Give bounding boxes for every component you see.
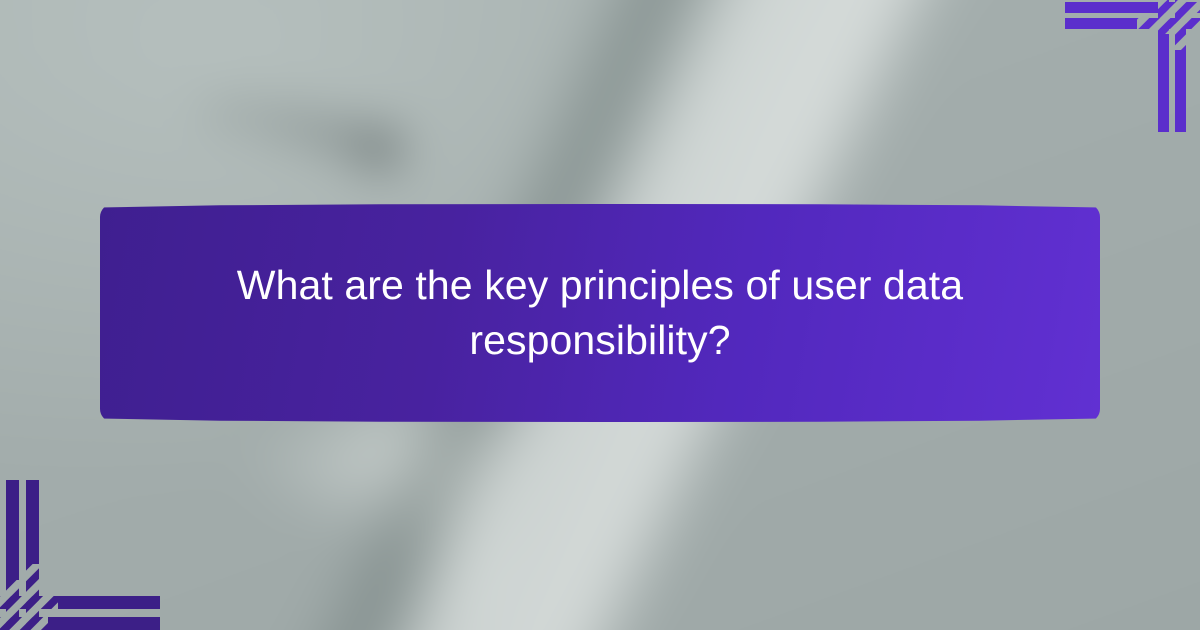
social-card: What are the key principles of user data… [0, 0, 1200, 630]
headline-banner: What are the key principles of user data… [100, 204, 1100, 422]
banner-title: What are the key principles of user data… [220, 258, 980, 367]
